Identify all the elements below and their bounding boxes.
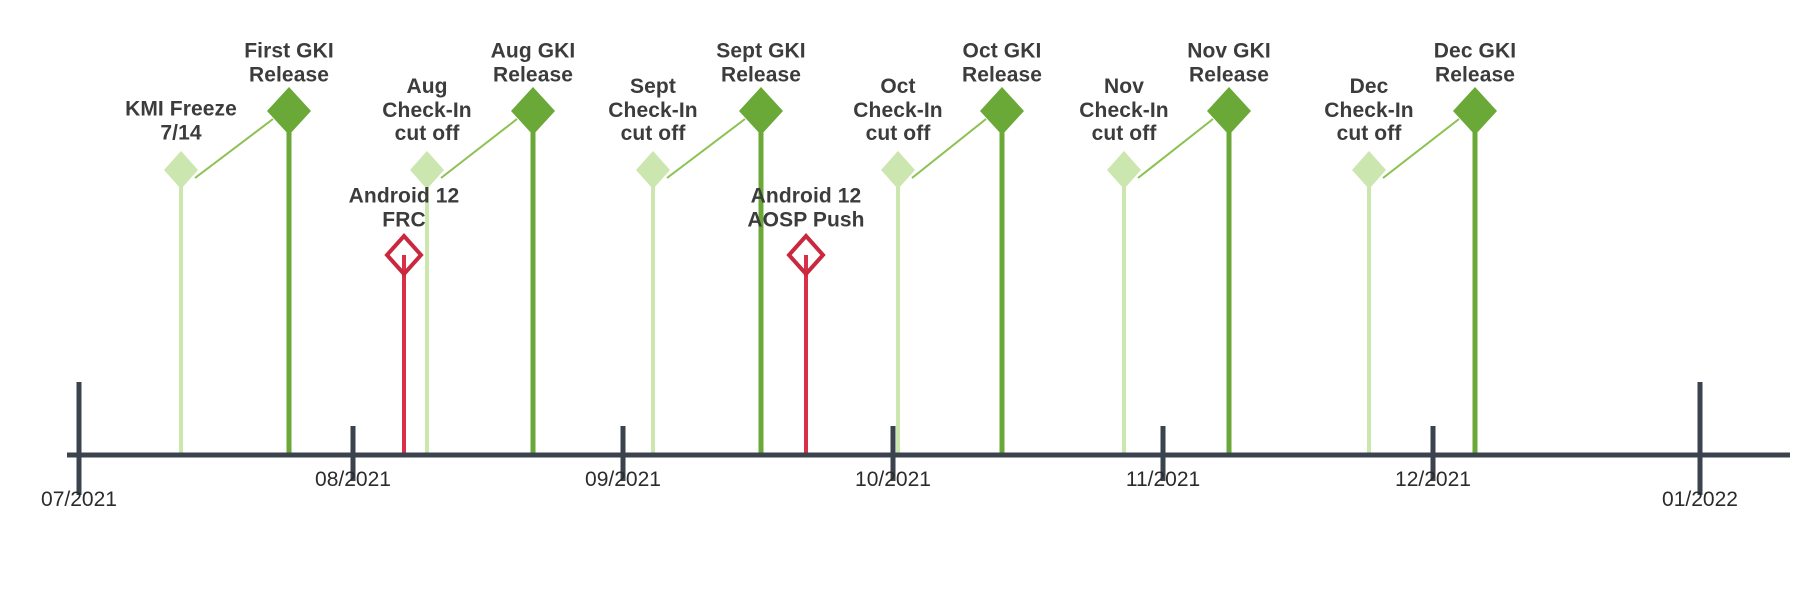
milestone-marker-first-gki-release[interactable] (267, 87, 311, 135)
axis-tick-label-08-2021: 08/2021 (315, 468, 391, 491)
milestone-stems-group (181, 111, 1475, 455)
milestone-marker-sept-gki-release[interactable] (739, 87, 783, 135)
milestone-label-nov-checkin: Nov Check-In cut off (1079, 75, 1169, 146)
milestone-label-sept-gki-release: Sept GKI Release (716, 40, 805, 87)
milestone-label-oct-gki-release: Oct GKI Release (962, 40, 1042, 87)
milestone-label-dec-checkin: Dec Check-In cut off (1324, 75, 1414, 146)
timeline-diagram: KMI Freeze 7/14First GKI ReleaseAug Chec… (0, 0, 1800, 602)
milestone-marker-nov-gki-release[interactable] (1207, 87, 1251, 135)
milestone-label-dec-gki-release: Dec GKI Release (1434, 40, 1516, 87)
milestone-marker-dec-checkin[interactable] (1352, 151, 1386, 189)
axis-tick-label-01-2022: 01/2022 (1662, 488, 1738, 511)
milestone-marker-oct-checkin[interactable] (881, 151, 915, 189)
milestone-markers-group (164, 87, 1497, 274)
milestone-marker-sept-checkin[interactable] (636, 151, 670, 189)
milestone-marker-dec-gki-release[interactable] (1453, 87, 1497, 135)
milestone-marker-nov-checkin[interactable] (1107, 151, 1141, 189)
axis-tick-label-10-2021: 10/2021 (855, 468, 931, 491)
milestone-label-nov-gki-release: Nov GKI Release (1187, 40, 1271, 87)
milestone-label-android12-aosp-push: Android 12 AOSP Push (747, 185, 864, 232)
milestone-label-sept-checkin: Sept Check-In cut off (608, 75, 698, 146)
milestone-label-first-gki-release: First GKI Release (244, 40, 334, 87)
milestone-label-android12-frc: Android 12 FRC (349, 185, 460, 232)
milestone-marker-aug-checkin[interactable] (410, 151, 444, 189)
milestone-label-aug-gki-release: Aug GKI Release (491, 40, 576, 87)
axis-tick-label-12-2021: 12/2021 (1395, 468, 1471, 491)
axis-tick-label-09-2021: 09/2021 (585, 468, 661, 491)
milestone-marker-aug-gki-release[interactable] (511, 87, 555, 135)
milestone-label-kmi-freeze: KMI Freeze 7/14 (125, 98, 237, 145)
axis-tick-label-07-2021: 07/2021 (41, 488, 117, 511)
axis-tick-label-11-2021: 11/2021 (1126, 468, 1200, 491)
milestone-label-oct-checkin: Oct Check-In cut off (853, 75, 943, 146)
milestone-label-aug-checkin: Aug Check-In cut off (382, 75, 472, 146)
milestone-marker-oct-gki-release[interactable] (980, 87, 1024, 135)
milestone-marker-kmi-freeze[interactable] (164, 151, 198, 189)
